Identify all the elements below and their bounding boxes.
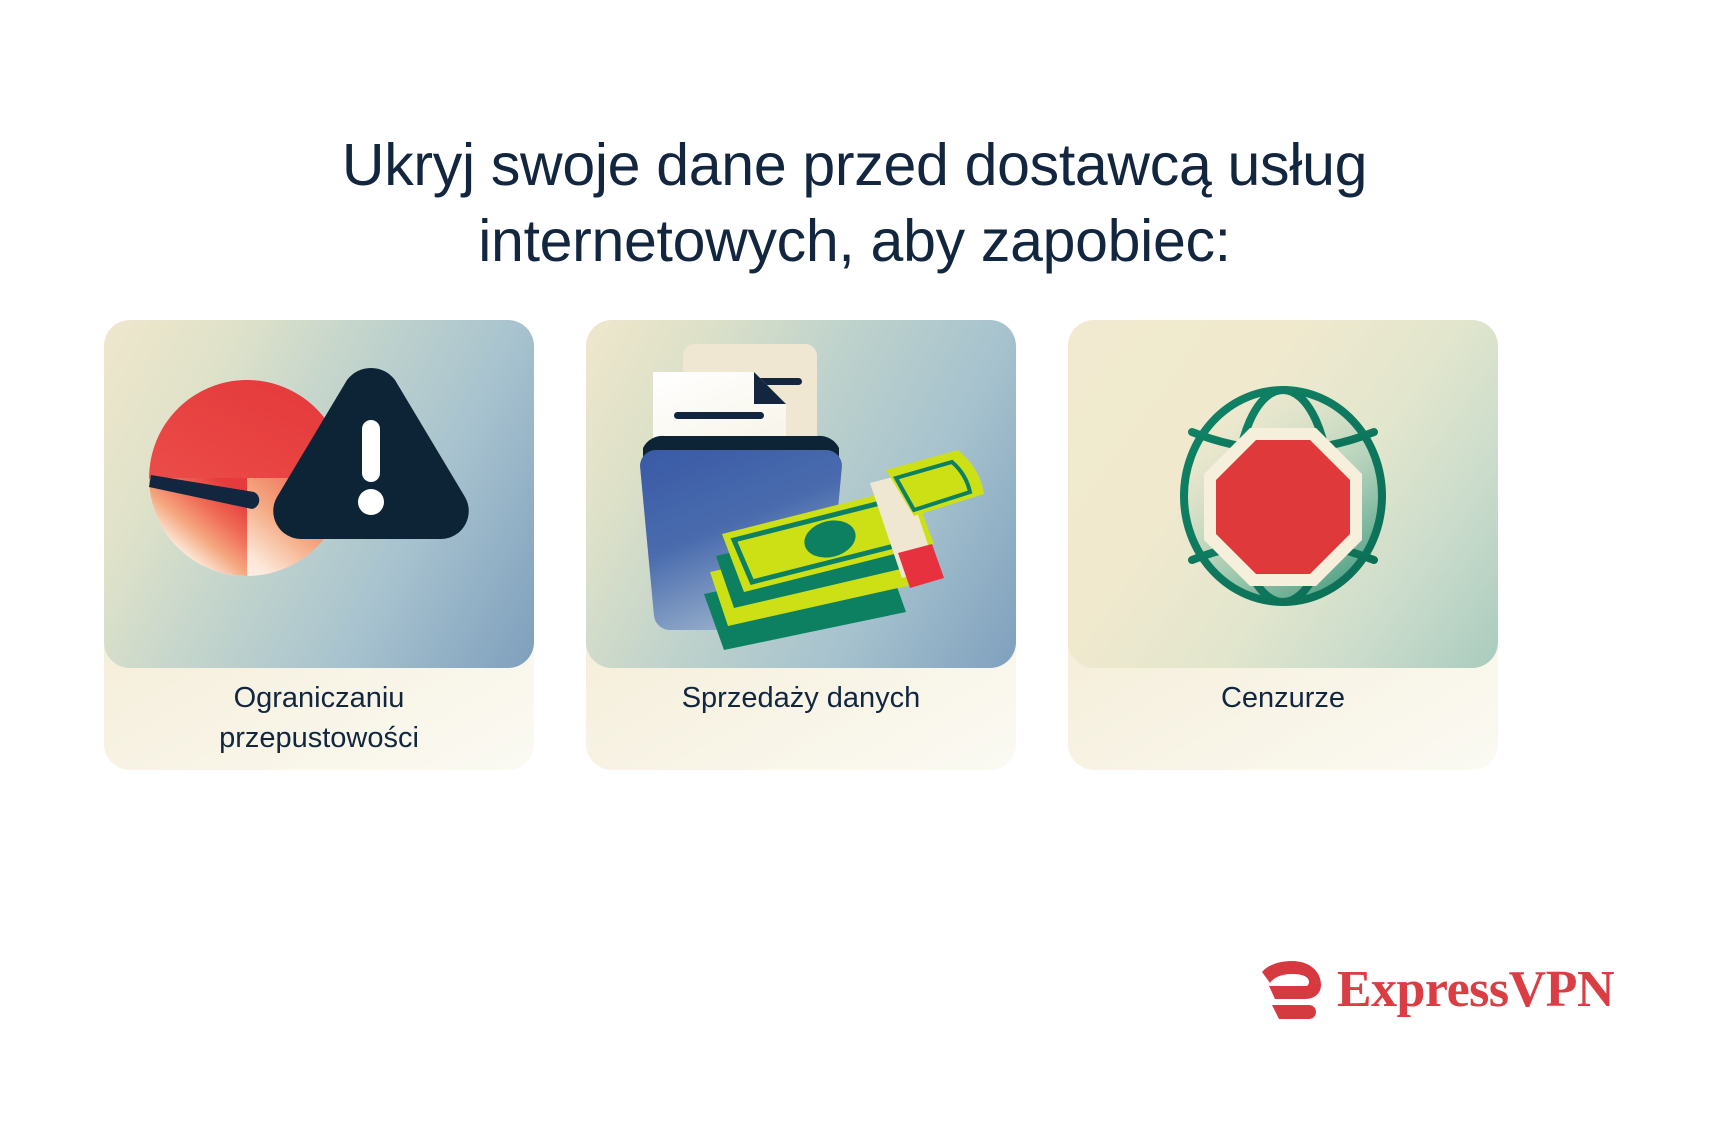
speedometer-warning-icon	[104, 320, 534, 668]
expressvpn-wordmark: ExpressVPN	[1337, 964, 1614, 1016]
card-censorship[interactable]: Cenzurze	[1068, 320, 1498, 770]
expressvpn-e-icon	[1259, 959, 1323, 1021]
card-throttling[interactable]: Ograniczaniu przepustowości	[104, 320, 534, 770]
infographic-canvas: Ukryj swoje dane przed dostawcą usług in…	[0, 0, 1709, 1121]
card-censorship-label: Cenzurze	[1068, 678, 1498, 718]
stop-sign-icon	[1204, 428, 1362, 586]
globe-stop-sign-icon	[1068, 320, 1498, 668]
card-censorship-media	[1068, 320, 1498, 668]
card-data-selling-label: Sprzedaży danych	[586, 678, 1016, 718]
card-data-selling-media	[586, 320, 1016, 668]
exclamation-bar	[362, 420, 380, 482]
card-throttling-label: Ograniczaniu przepustowości	[104, 678, 534, 758]
benefit-cards-row: Ograniczaniu przepustowości	[104, 320, 1604, 770]
exclamation-dot	[358, 489, 384, 515]
folder-documents-money-icon	[586, 320, 1016, 668]
page-title-line-2: internetowych, aby zapobiec:	[478, 208, 1231, 274]
card-throttling-media	[104, 320, 534, 668]
card-data-selling[interactable]: Sprzedaży danych	[586, 320, 1016, 770]
page-title-line-1: Ukryj swoje dane przed dostawcą usług	[342, 132, 1367, 198]
page-title: Ukryj swoje dane przed dostawcą usług in…	[0, 128, 1709, 279]
expressvpn-logo[interactable]: ExpressVPN	[1259, 959, 1614, 1021]
